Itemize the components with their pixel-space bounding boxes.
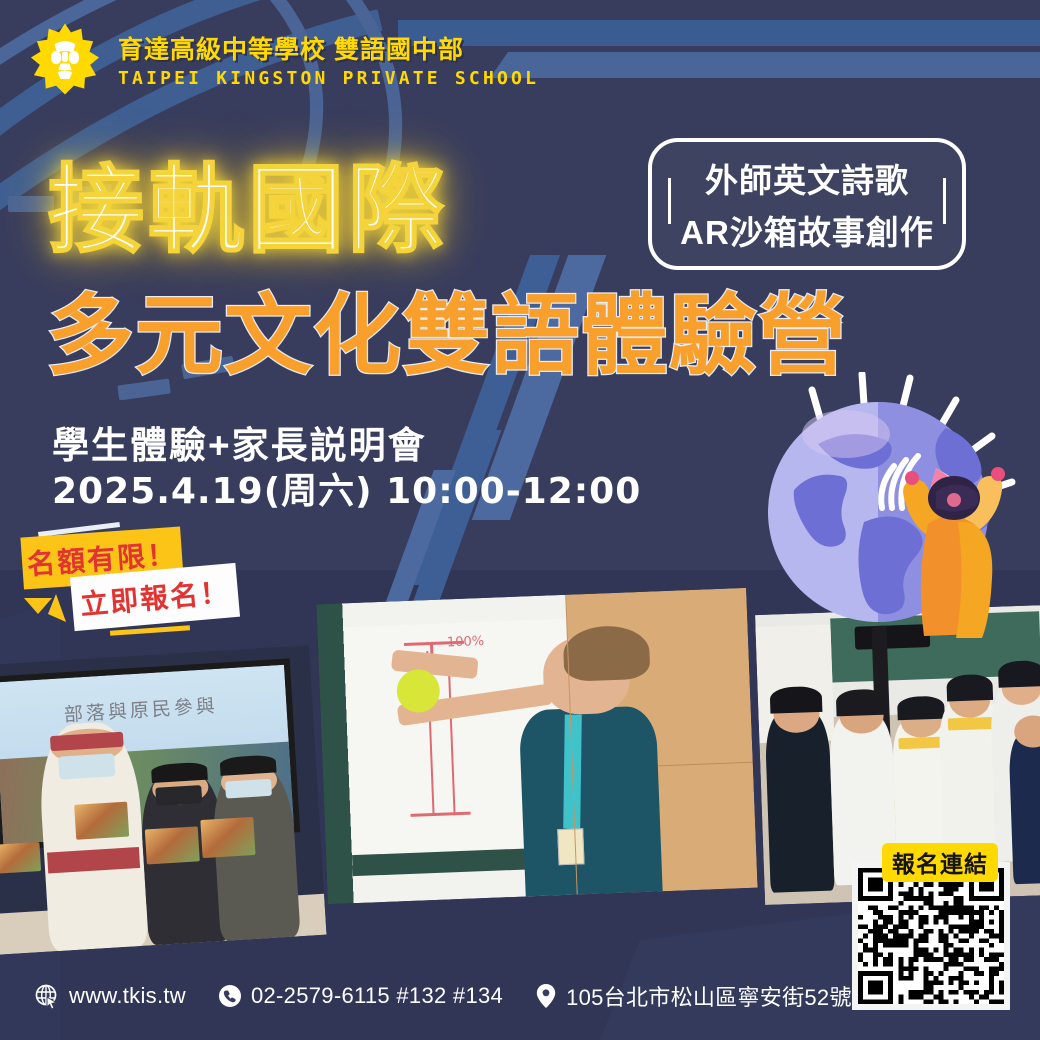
screen-caption: 部落與原民參與 [0, 687, 287, 732]
culture-card-1 [74, 802, 129, 840]
website-text: www.tkis.tw [69, 983, 186, 1009]
culture-card-4 [0, 842, 42, 874]
poster-header: 育達高級中等學校 雙語國中部 TAIPEI KINGSTON PRIVATE S… [28, 22, 539, 96]
paper-plane-arrow-icon [22, 592, 68, 628]
school-name-block: 育達高級中等學校 雙語國中部 TAIPEI KINGSTON PRIVATE S… [118, 30, 539, 89]
address-text: 105台北市松山區寧安街52號 [566, 980, 852, 1012]
footer-contact-bar: www.tkis.tw 02-2579-6115 #132 #134 105台北… [34, 980, 852, 1012]
id-badge [557, 828, 584, 865]
lion-crest-logo-icon [28, 22, 102, 96]
footer-website[interactable]: www.tkis.tw [34, 983, 186, 1009]
qr-code-card[interactable] [852, 862, 1010, 1010]
student-1 [764, 711, 834, 893]
culture-card-3 [201, 817, 256, 858]
culture-card-2 [145, 826, 200, 864]
bubble-tick-right [943, 178, 946, 224]
bubble-line-2: AR沙箱故事創作 [680, 206, 934, 254]
footer-phone[interactable]: 02-2579-6115 #132 #134 [218, 983, 503, 1009]
teacher-torso [518, 705, 663, 896]
globe-megaphone-illustration [760, 372, 1040, 642]
hero-subtitle: 學生體驗+家長説明會 [52, 415, 427, 469]
event-datetime: 2025.4.19(周六) 10:00-12:00 [52, 462, 641, 514]
phone-icon [218, 984, 242, 1008]
speech-bubble: 外師英文詩歌 AR沙箱故事創作 [648, 138, 966, 270]
photo-foreign-teacher-class: 100% [316, 588, 757, 904]
globe-cursor-icon [34, 983, 60, 1009]
whiteboard-note: 100% [447, 634, 485, 650]
qr-code-icon[interactable] [858, 868, 1004, 1004]
bubble-line-1: 外師英文詩歌 [705, 154, 909, 202]
school-name-cn: 育達高級中等學校 雙語國中部 [118, 30, 539, 66]
bubble-tick-left [668, 178, 671, 224]
qr-code-label: 報名連結 [882, 843, 998, 882]
student-6 [1009, 732, 1040, 885]
school-name-en: TAIPEI KINGSTON PRIVATE SCHOOL [118, 68, 539, 89]
phone-text: 02-2579-6115 #132 #134 [251, 983, 503, 1009]
hero-title-line1: 接軌國際 [48, 163, 448, 259]
footer-address: 105台北市松山區寧安街52號 [535, 980, 852, 1012]
photo-cultural-presentation: 部落與原民參與 [0, 645, 327, 955]
poster-canvas: 育達高級中等學校 雙語國中部 TAIPEI KINGSTON PRIVATE S… [0, 0, 1040, 1040]
map-pin-icon [535, 983, 557, 1009]
hero-title-line2: 多元文化雙語體驗營 [46, 292, 847, 380]
